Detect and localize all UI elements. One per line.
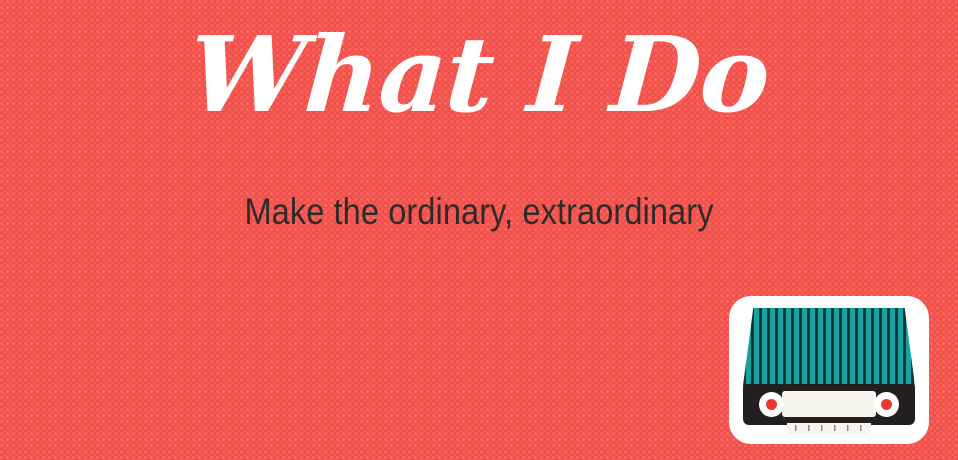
radio-knob-left <box>759 392 784 417</box>
radio-grille-stripes <box>743 308 915 386</box>
retro-radio-icon <box>729 296 929 444</box>
radio-knob-right <box>874 392 899 417</box>
page-subtitle: Make the ordinary, extraordinary <box>57 190 900 234</box>
radio-knob-left-center <box>766 399 777 410</box>
radio-tuning-dial <box>782 391 876 417</box>
radio-console-panel <box>743 384 915 425</box>
page-title: What I Do <box>0 14 958 137</box>
radio-knob-right-center <box>881 399 892 410</box>
radio-tuning-ticks <box>795 425 863 431</box>
hero-banner: What I Do Make the ordinary, extraordina… <box>0 0 958 460</box>
radio-base-foot <box>787 423 871 434</box>
radio-speaker-grille <box>743 308 915 386</box>
radio-body <box>743 308 915 425</box>
